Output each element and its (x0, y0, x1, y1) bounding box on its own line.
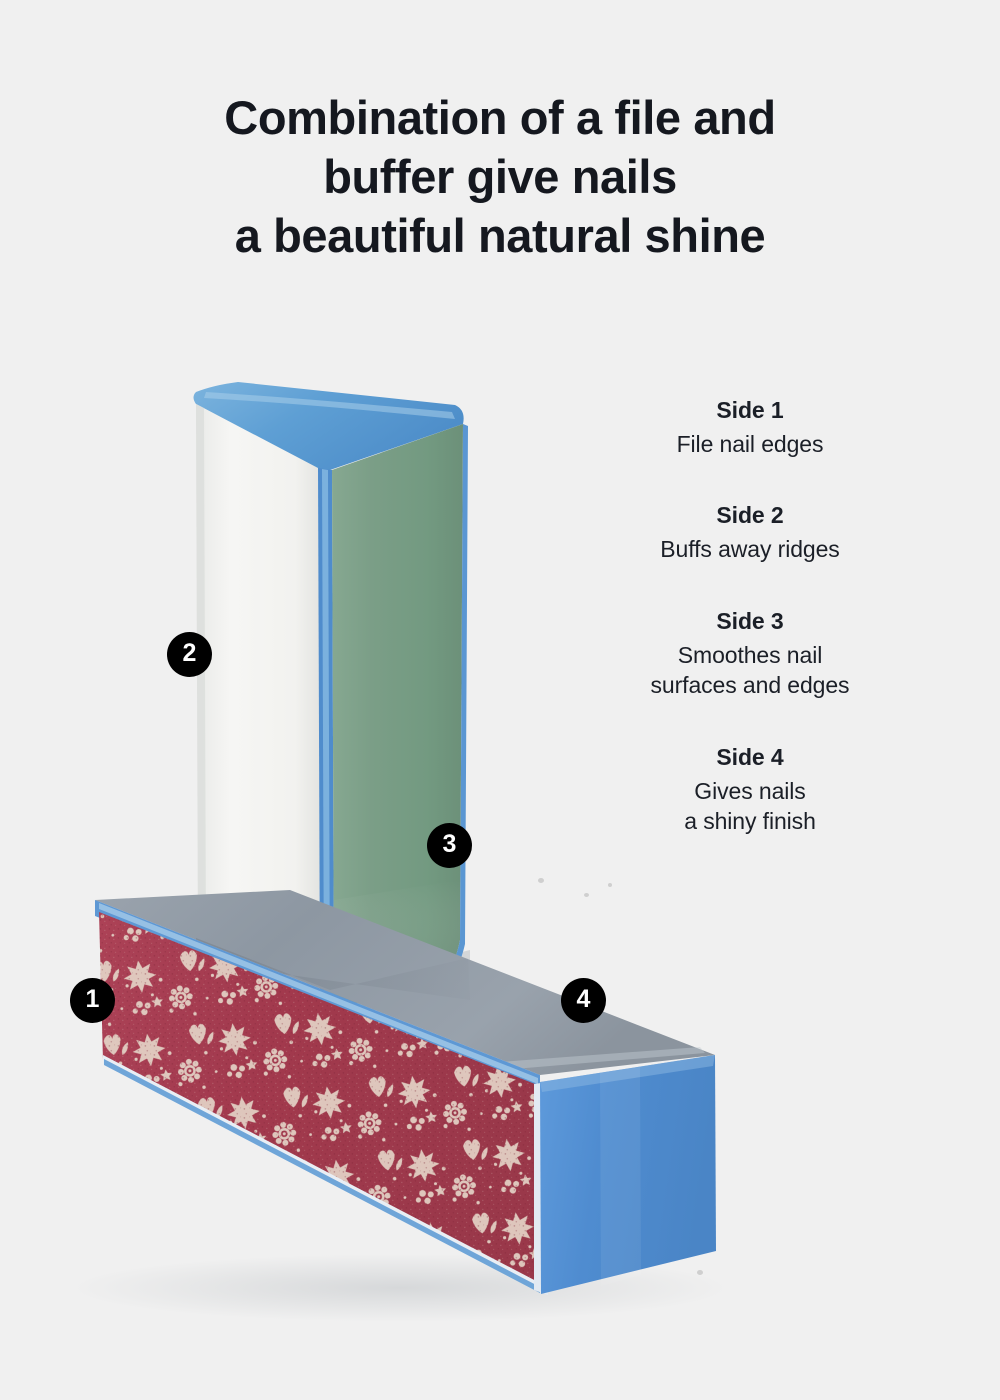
dust-speck (697, 1270, 703, 1275)
side-1-floral-pattern (99, 912, 540, 1290)
side-4-caption: Side 4 Gives nails a shiny finish (560, 743, 940, 837)
side-2-label: Side 2 (560, 501, 940, 531)
badge-3: 3 (427, 823, 472, 868)
ground-shadow (70, 1254, 730, 1322)
dust-speck (584, 893, 589, 897)
white-face-bottom-shade (198, 905, 320, 1000)
side-3-label: Side 3 (560, 607, 940, 637)
side-3-green-buffer-face (332, 424, 463, 1008)
upright-top-highlight (204, 392, 455, 419)
upright-right-blue-edge (430, 424, 468, 992)
badge-3-label: 3 (443, 832, 457, 857)
side-1-grit-texture (99, 912, 540, 1290)
end-cap-sheen (600, 1067, 641, 1286)
side-1-bottom-pale-strip (103, 1055, 540, 1292)
badge-2: 2 (167, 632, 212, 677)
side-4-description: Gives nails a shiny finish (560, 776, 940, 837)
side-1-pattern-group (99, 912, 540, 1290)
end-cap-seam-strip (534, 1082, 548, 1295)
gray-top-cast-shadow (196, 938, 470, 1000)
dust-speck (538, 878, 544, 883)
badge-1-label: 1 (86, 987, 100, 1012)
badge-4: 4 (561, 978, 606, 1023)
dust-speck (608, 883, 612, 887)
page-title: Combination of a file and buffer give na… (0, 88, 1000, 266)
side-2-description: Buffs away ridges (560, 534, 940, 565)
end-cap-blue-face (540, 1055, 716, 1294)
side-2-caption: Side 2 Buffs away ridges (560, 501, 940, 564)
side-1-description: File nail edges (560, 429, 940, 460)
end-cap-top-bevel (540, 1055, 715, 1092)
side-1-caption: Side 1 File nail edges (560, 396, 940, 459)
side-3-description: Smoothes nail surfaces and edges (560, 640, 940, 701)
side-1-red-grit-face (99, 912, 540, 1290)
gray-top-highlight (500, 1047, 705, 1070)
upright-block (194, 382, 471, 1010)
badge-1: 1 (70, 978, 115, 1023)
side-descriptions: Side 1 File nail edges Side 2 Buffs away… (560, 396, 940, 837)
badge-4-label: 4 (577, 987, 591, 1012)
side-1-shading (99, 912, 540, 1290)
upright-front-blue-spine (318, 468, 334, 1008)
infographic-page: Combination of a file and buffer give na… (0, 0, 1000, 1400)
side-4-gray-shine-face (95, 890, 715, 1075)
side-1-bottom-blue-strip (104, 1059, 540, 1293)
side-4-label: Side 4 (560, 743, 940, 773)
side-3-caption: Side 3 Smoothes nail surfaces and edges (560, 607, 940, 701)
upright-top-blue-face (194, 382, 464, 471)
badge-2-label: 2 (183, 641, 197, 666)
side-1-label: Side 1 (560, 396, 940, 426)
horizontal-block (95, 890, 716, 1295)
side-1-top-blue-edge (95, 900, 540, 1092)
upright-front-blue-spine-highlight (322, 469, 330, 1004)
side-2-white-buffer-face (196, 404, 320, 1000)
upright-block-contact-shadow (196, 940, 470, 1010)
green-face-bottom-shade (334, 880, 460, 1008)
side-1-top-blue-edge-highlight (99, 903, 538, 1084)
